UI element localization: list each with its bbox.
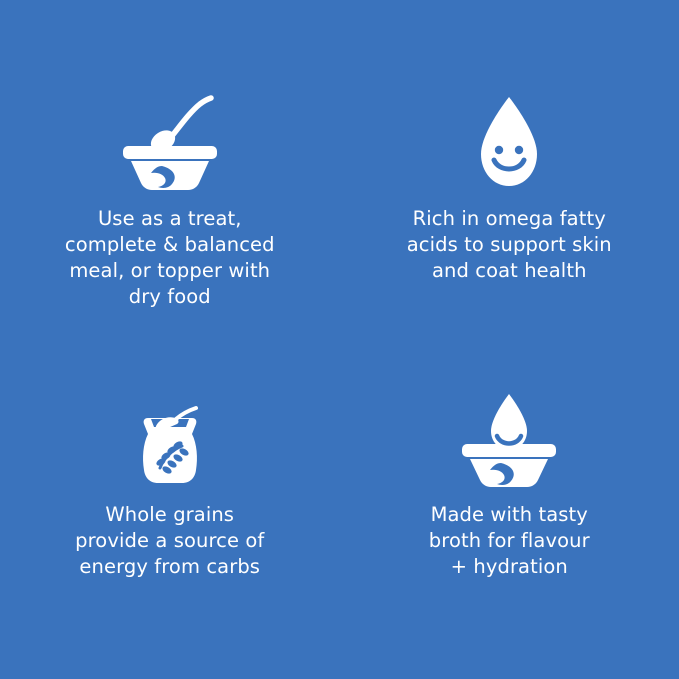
droplet-over-bowl-icon — [449, 378, 569, 488]
grain-sack-with-scoop-icon — [110, 378, 230, 488]
feature-item-treat: Use as a treat, complete & balanced meal… — [0, 30, 340, 330]
feature-item-broth: Made with tasty broth for flavour + hydr… — [340, 330, 679, 630]
feature-caption: Whole grains provide a source of energy … — [50, 502, 290, 580]
feature-item-grains: Whole grains provide a source of energy … — [0, 330, 340, 630]
feature-caption: Use as a treat, complete & balanced meal… — [40, 206, 300, 310]
feature-item-omega: Rich in omega fatty acids to support ski… — [340, 30, 679, 330]
feature-grid: Use as a treat, complete & balanced meal… — [0, 30, 679, 630]
feature-grid-panel: Use as a treat, complete & balanced meal… — [0, 0, 679, 679]
dog-bowl-with-spoon-icon — [110, 82, 230, 192]
smiling-water-droplet-icon — [449, 82, 569, 192]
feature-caption: Made with tasty broth for flavour + hydr… — [389, 502, 629, 580]
feature-caption: Rich in omega fatty acids to support ski… — [379, 206, 639, 284]
